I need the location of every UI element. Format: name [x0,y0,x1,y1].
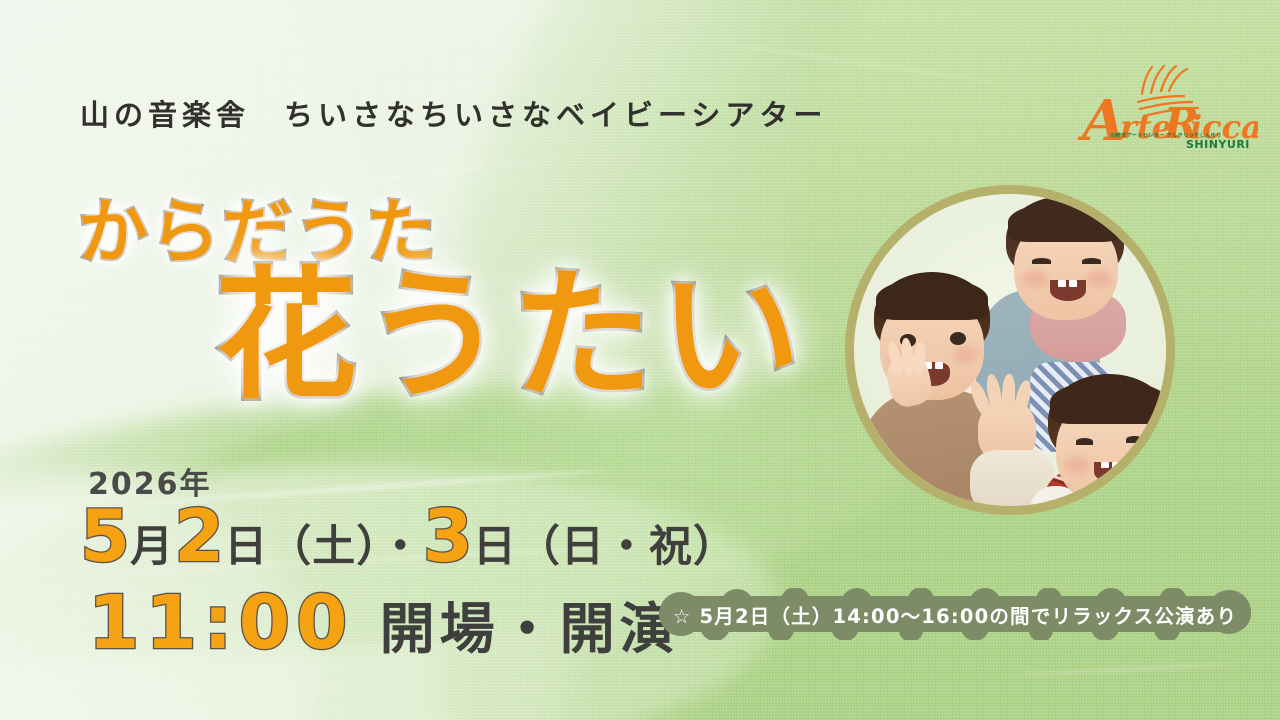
arte-ricca-logo: A rte R icca SHINYURI 川崎市アートセンター アルテリッチし… [1068,58,1258,153]
photo-circle-frame [845,185,1175,515]
title-main-hanautai: 花うたい [215,266,807,408]
time-value: 11:00 [88,580,354,666]
relax-performance-banner: ☆ 5月2日（土）14:00〜16:00の間でリラックス公演あり [645,588,1265,640]
svg-text:A: A [1077,88,1125,153]
header-subtitle: 山の音楽舎 ちいさなちいさなベイビーシアター [80,92,827,134]
date-month-number: 5 [80,494,130,578]
photo-babies [854,194,1166,506]
time-label: 開場・開演 [380,597,680,661]
logo-caption: 川崎市アートセンター アルテリッチしんゆり [1110,132,1222,139]
date-line: 5月2日（土）・3日（日・祝） [80,500,737,572]
date-day1-number: 2 [174,494,224,578]
logo-subname: SHINYURI [1186,138,1250,151]
date-month-kanji: 月 [130,522,174,572]
date-day2-kanji: 日（日・祝） [473,522,737,572]
banner-note-text: ☆ 5月2日（土）14:00〜16:00の間でリラックス公演あり [645,588,1265,640]
date-day2-number: 3 [423,494,473,578]
date-day1-kanji: 日（土）・ [224,522,423,572]
time-line: 11:00開場・開演 [88,586,680,660]
poster-canvas: 山の音楽舎 ちいさなちいさなベイビーシアター A rte R [0,0,1280,720]
